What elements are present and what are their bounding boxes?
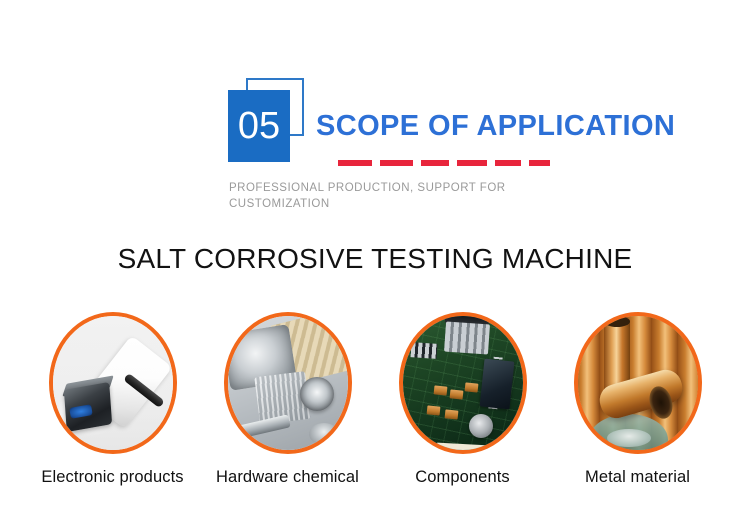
circle-photo-frame bbox=[49, 312, 177, 454]
components-pcb-photo bbox=[399, 312, 527, 454]
divider-segment bbox=[338, 160, 372, 166]
metal-disc-shape bbox=[607, 429, 651, 447]
bearing-ring-shape bbox=[300, 377, 334, 411]
divider-segment bbox=[495, 160, 521, 166]
product-title: SALT CORROSIVE TESTING MACHINE bbox=[0, 243, 750, 275]
pcb-resistor-shape bbox=[449, 389, 463, 399]
divider-segment bbox=[529, 160, 550, 166]
pcb-capacitors-shape bbox=[444, 322, 490, 355]
application-cards-row: Electronic products Hardware chemical bbox=[0, 312, 750, 512]
application-scope-slide: 05 SCOPE OF APPLICATION PROFESSIONAL PRO… bbox=[0, 0, 750, 526]
application-card-caption: Hardware chemical bbox=[216, 468, 359, 487]
application-card-metal-material[interactable]: Metal material bbox=[550, 312, 725, 487]
divider-segment bbox=[380, 160, 414, 166]
pcb-connector-shape bbox=[411, 342, 438, 359]
application-card-components[interactable]: Components bbox=[375, 312, 550, 487]
application-card-electronic-products[interactable]: Electronic products bbox=[25, 312, 200, 487]
metal-material-photo bbox=[574, 312, 702, 454]
red-dashed-divider bbox=[338, 160, 550, 166]
application-card-caption: Metal material bbox=[585, 468, 690, 487]
application-card-caption: Electronic products bbox=[41, 468, 183, 487]
section-subtitle: PROFESSIONAL PRODUCTION, SUPPORT FOR CUS… bbox=[229, 180, 529, 212]
section-header: 05 SCOPE OF APPLICATION PROFESSIONAL PRO… bbox=[0, 0, 750, 230]
circle-photo-frame bbox=[574, 312, 702, 454]
section-title: SCOPE OF APPLICATION bbox=[316, 110, 675, 143]
application-card-caption: Components bbox=[415, 468, 510, 487]
bearing-ring-shape bbox=[309, 423, 339, 445]
pcb-resistor-shape bbox=[465, 382, 479, 392]
pcb-resistor-shape bbox=[444, 409, 458, 419]
divider-segment bbox=[421, 160, 449, 166]
pcb-ic-chip-shape bbox=[480, 359, 515, 410]
badge-number-text: 05 bbox=[228, 90, 290, 162]
section-number-badge: 05 bbox=[228, 78, 308, 166]
application-card-hardware-chemical[interactable]: Hardware chemical bbox=[200, 312, 375, 487]
circle-photo-frame bbox=[399, 312, 527, 454]
hardware-chemical-photo bbox=[224, 312, 352, 454]
pcb-label-strip-shape bbox=[437, 443, 488, 453]
circle-photo-frame bbox=[224, 312, 352, 454]
electronic-products-photo bbox=[49, 312, 177, 454]
pcb-resistor-shape bbox=[426, 405, 440, 415]
pcb-resistor-shape bbox=[434, 385, 448, 395]
divider-segment bbox=[457, 160, 487, 166]
